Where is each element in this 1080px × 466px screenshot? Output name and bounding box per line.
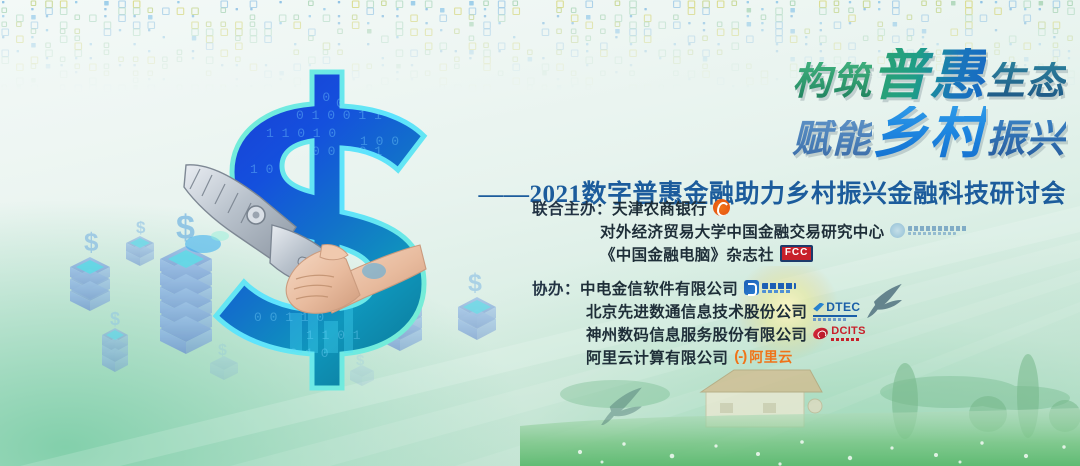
dtec-logo-text: DTEC — [826, 300, 860, 314]
svg-text:$: $ — [110, 309, 120, 329]
coorg-org-1: 中电金信软件有限公司 — [580, 277, 738, 299]
svg-text:1 0 1 1 0: 1 0 1 1 0 — [260, 90, 330, 105]
host-org-1: 天津农商银行 — [612, 197, 707, 219]
host-org-2: 对外经济贸易大学中国金融交易研究中心 — [600, 220, 884, 242]
svg-text:1 1 0 1 0: 1 1 0 1 0 — [266, 126, 336, 141]
host-label: 联合主办： — [532, 197, 612, 219]
coorg-org-2: 北京先进数通信息技术股份公司 — [586, 300, 807, 322]
headline-seg-gouzhu: 构筑 — [792, 62, 872, 101]
aliyun-logo: (-) 阿里云 — [734, 347, 793, 367]
cietc-logo — [744, 280, 796, 295]
coorganizer-block: 协办： 中电金信软件有限公司 北京先进数通信息技术股份公司 DTEC 神州数码信… — [532, 276, 952, 368]
headline-seg-xiangcun: 乡村 — [872, 106, 986, 162]
dcits-logo: DCITS — [813, 326, 866, 341]
fcc-logo: FCC — [780, 245, 814, 262]
host-line-3: 《中国金融电脑》杂志社 FCC — [532, 242, 952, 265]
coorg-org-3: 神州数码信息服务股份有限公司 — [586, 323, 807, 345]
coorg-line-1: 协办： 中电金信软件有限公司 — [532, 276, 952, 299]
headline-line-2: 赋能乡村振兴 — [446, 106, 1066, 162]
host-org-3: 《中国金融电脑》杂志社 — [600, 243, 774, 265]
svg-text:$: $ — [136, 218, 146, 237]
tjrcb-logo — [713, 199, 730, 216]
svg-text:$: $ — [84, 227, 99, 257]
headline-seg-funeng: 赋能 — [792, 120, 872, 159]
dtec-logo: DTEC — [813, 300, 860, 321]
swallow-bird-icon-2 — [600, 385, 660, 425]
svg-text:1 0 1 1: 1 0 1 1 — [250, 162, 305, 177]
fcc-logo-text: FCC — [780, 245, 814, 262]
headline-line-1: 构筑普惠生态 — [446, 48, 1066, 104]
host-line-1: 联合主办： 天津农商银行 — [532, 196, 952, 219]
svg-text:1 0 0: 1 0 0 — [360, 134, 399, 149]
uibe-logo — [890, 223, 968, 238]
svg-text:$: $ — [468, 269, 482, 297]
coorg-line-3: 神州数码信息服务股份有限公司 DCITS — [532, 322, 952, 345]
coorg-line-2: 北京先进数通信息技术股份公司 DTEC — [532, 299, 952, 322]
svg-text:$: $ — [218, 342, 227, 359]
credits-block: 联合主办： 天津农商银行 对外经济贸易大学中国金融交易研究中心 《中国金融电脑》… — [532, 196, 952, 379]
host-line-2: 对外经济贸易大学中国金融交易研究中心 — [532, 219, 952, 242]
aliyun-logo-text: 阿里云 — [749, 347, 793, 367]
host-block: 联合主办： 天津农商银行 对外经济贸易大学中国金融交易研究中心 《中国金融电脑》… — [532, 196, 952, 265]
event-banner: $ $ $ — [0, 0, 1080, 466]
dcits-logo-text: DCITS — [831, 326, 866, 337]
headline-seg-shengtai: 生态 — [986, 62, 1066, 101]
aliyun-bracket-text: (-) — [734, 348, 746, 365]
headline-block: 构筑普惠生态 赋能乡村振兴 ——2021数字普惠金融助力乡村振兴金融科技研讨会 — [446, 48, 1066, 210]
headline-seg-zhenxing: 振兴 — [986, 120, 1066, 159]
coorg-line-4: 阿里云计算有限公司 (-) 阿里云 — [532, 345, 952, 368]
coorganizer-label: 协办： — [532, 277, 580, 299]
coorg-org-4: 阿里云计算有限公司 — [586, 346, 728, 368]
headline-seg-puhui: 普惠 — [872, 48, 986, 104]
